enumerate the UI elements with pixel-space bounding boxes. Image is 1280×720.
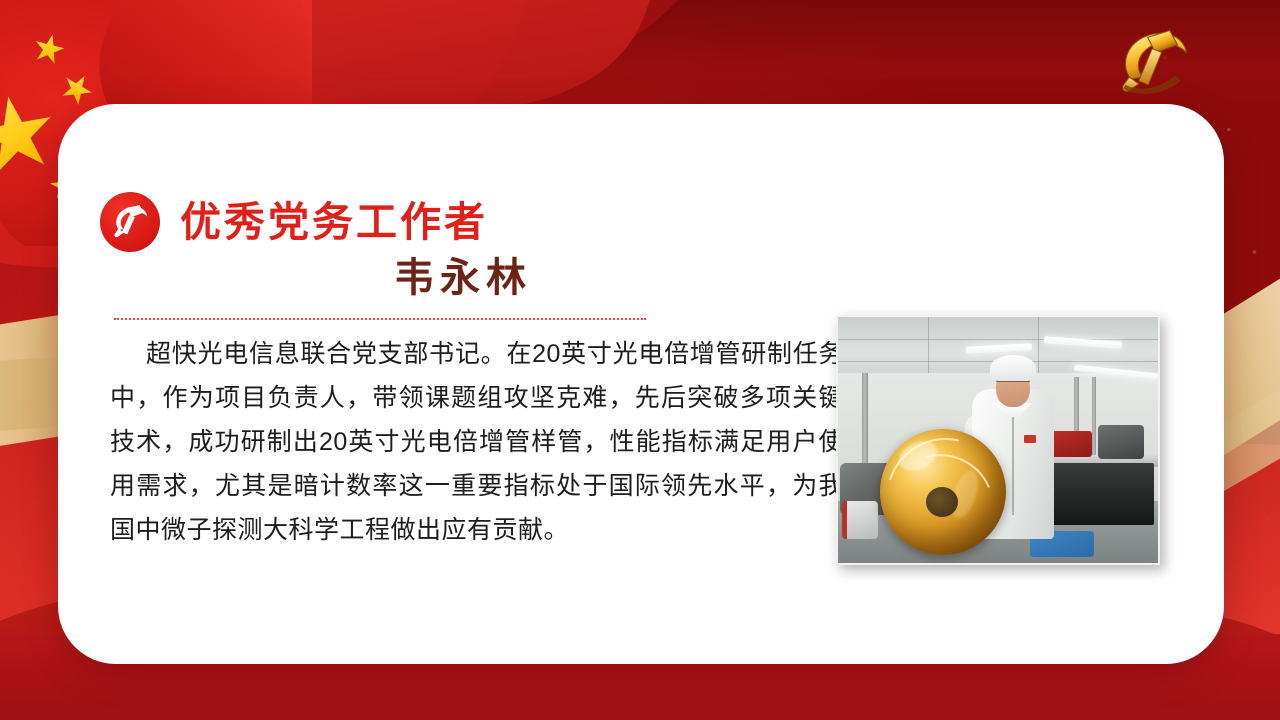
photo-person-cap [990,355,1036,381]
party-emblem-hammer-sickle-icon [1106,22,1202,100]
photo-pmt-core [926,487,958,517]
photo-person-badge [1024,435,1036,443]
photo-ceiling-line-4 [1038,317,1039,379]
photo-pillar-3 [1092,377,1096,463]
photo-equipment-left-2 [842,501,878,539]
photo-ceiling-line-1 [838,339,1158,340]
photo-person-glasses [996,380,1030,387]
photo-photomultiplier-tube [880,429,1006,555]
content-card: 优秀党务工作者 韦永林 超快光电信息联合党支部书记。在20英寸光电倍增管研制任务… [58,104,1224,664]
photo-person-zipper [1012,417,1014,515]
photo-equipment-1 [1098,425,1144,459]
person-photo [836,315,1160,565]
title-row: 优秀党务工作者 [100,192,488,252]
page-title: 优秀党务工作者 [180,202,488,243]
photo-pillar-1 [862,373,868,473]
photo-ceiling-line-3 [928,317,929,379]
person-name: 韦永林 [394,258,532,298]
party-badge-icon [100,192,160,252]
photo-scene [838,317,1158,563]
biography-text: 超快光电信息联合党支部书记。在20英寸光电倍增管研制任务中，作为项目负责人，带领… [110,332,844,552]
slide-root: 优秀党务工作者 韦永林 超快光电信息联合党支部书记。在20英寸光电倍增管研制任务… [0,0,1280,720]
dotted-divider [114,318,646,320]
